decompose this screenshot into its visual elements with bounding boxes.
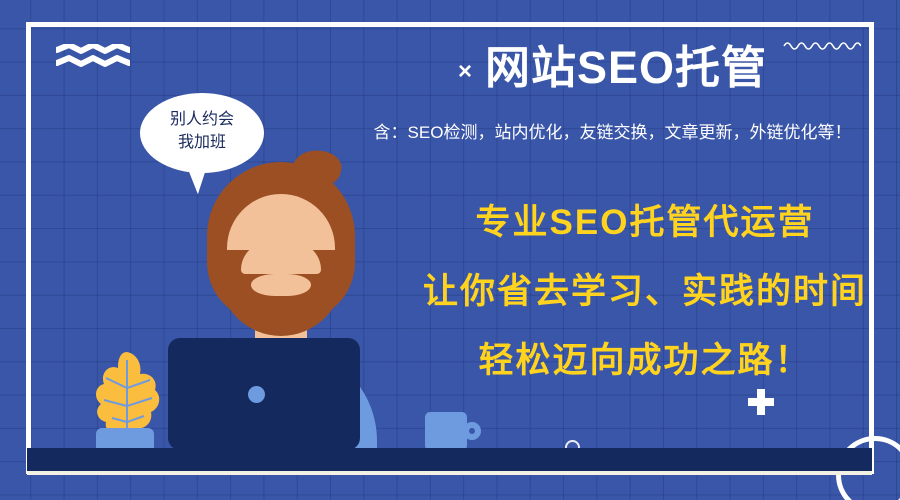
- character-beard-notch: [241, 242, 321, 274]
- slogan-line-3: 轻松迈向成功之路！: [400, 332, 890, 383]
- potted-plant-icon: [90, 348, 164, 438]
- page-title: ×网站SEO托管: [340, 44, 885, 91]
- plus-icon: [748, 389, 774, 415]
- character-mouth: [251, 274, 311, 296]
- laptop-logo-dot: [248, 386, 265, 403]
- laptop-icon: [168, 338, 360, 450]
- mug-handle: [463, 422, 481, 440]
- speech-bubble-line-1: 别人约会: [140, 108, 264, 131]
- slogan-line-1: 专业SEO托管代运营: [400, 194, 890, 245]
- desk-edge-highlight: [27, 471, 872, 475]
- slogan-line-2: 让你省去学习、实践的时间: [400, 263, 890, 314]
- wave-thick-icon: [56, 44, 130, 68]
- speech-bubble: 别人约会 我加班: [140, 93, 264, 173]
- coffee-mug-icon: [425, 412, 467, 452]
- speech-bubble-text: 别人约会 我加班: [140, 108, 264, 154]
- subtitle: 含：SEO检测，站内优化，友链交换，文章更新，外链优化等！: [340, 118, 885, 143]
- bullet-marker: ×: [458, 58, 473, 85]
- title-text: 网站SEO托管: [485, 42, 767, 93]
- speech-bubble-line-2: 我加班: [140, 131, 264, 154]
- seo-hosting-poster: ×网站SEO托管 含：SEO检测，站内优化，友链交换，文章更新，外链优化等！ 专…: [0, 0, 900, 500]
